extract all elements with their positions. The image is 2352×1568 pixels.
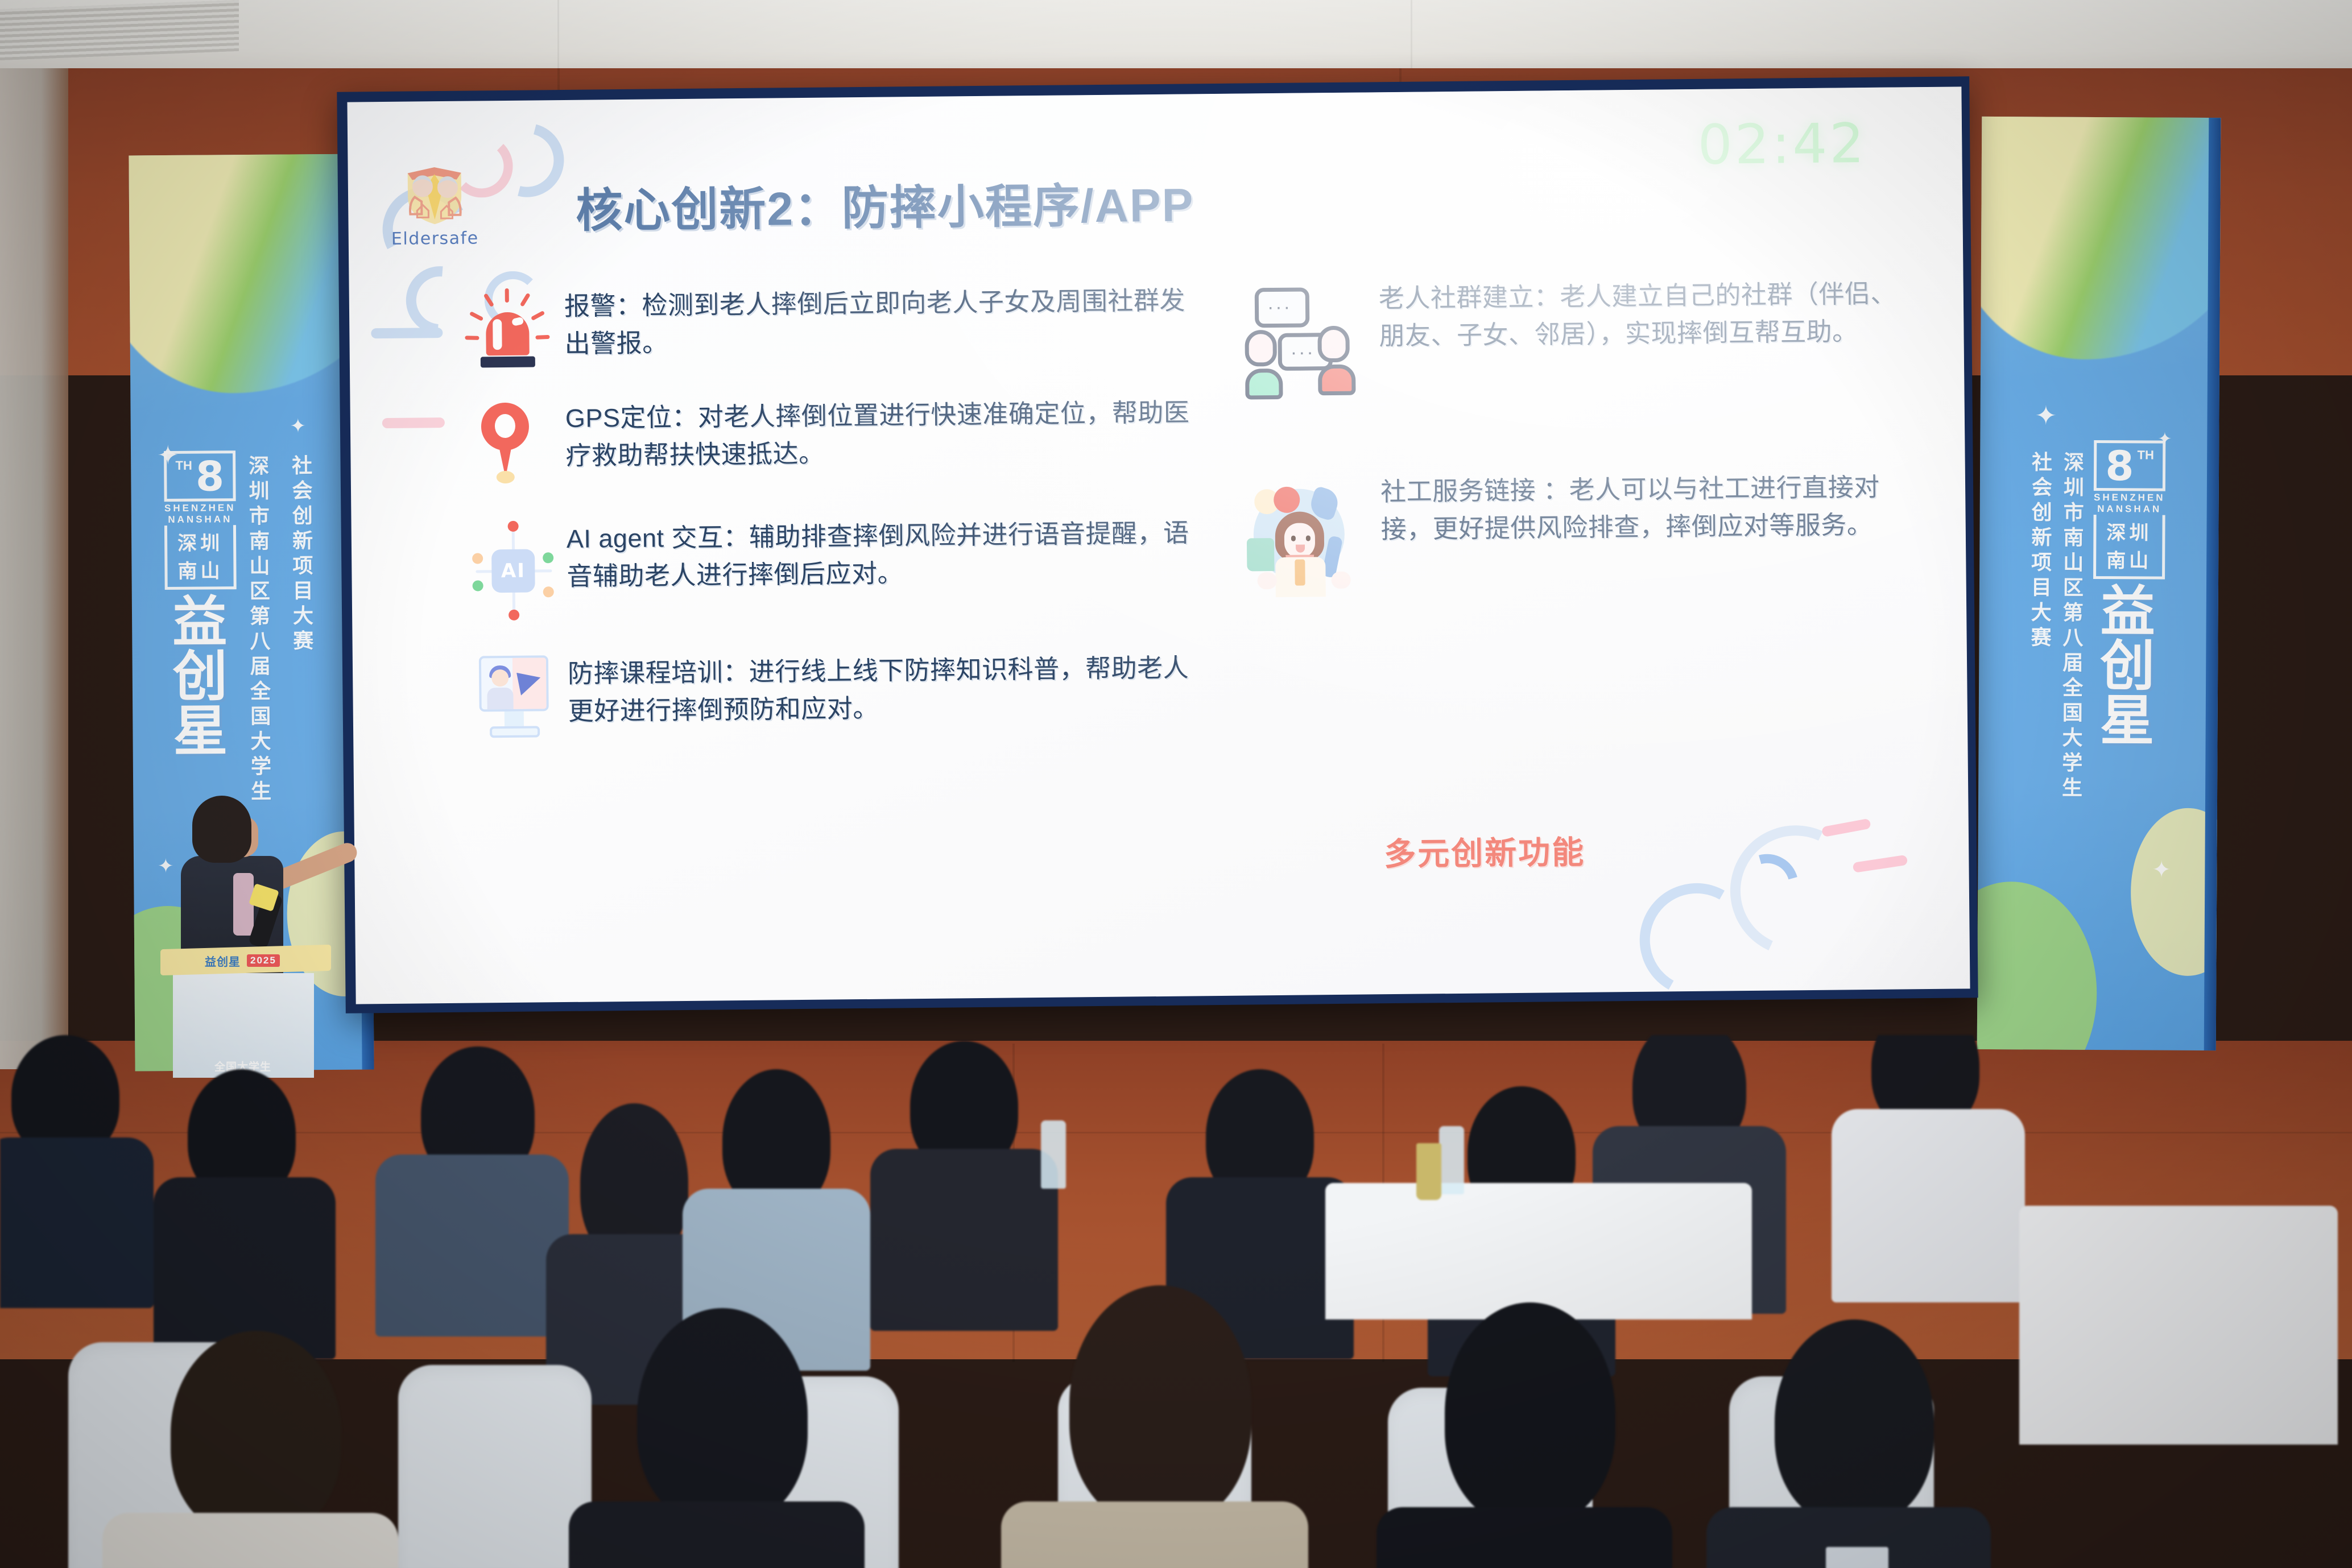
list-item: 报警：检测到老人摔倒后立即向老人子女及周围社群发出警报。: [470, 282, 1216, 366]
audience-head: [171, 1331, 341, 1536]
badge-pinyin: SHENZHEN NANSHAN: [164, 502, 236, 526]
alarm-siren-icon: [470, 288, 556, 365]
cup: [1826, 1547, 1888, 1568]
audience-body: [102, 1513, 398, 1568]
list-item: 社工服务链接 ：老人可以与社工进行直接对接，更好提供风险排查，摔倒应对等服务。: [1244, 468, 1928, 597]
banner-vertical-text-secondary: 深圳市南山区第八届全国大学生: [242, 455, 274, 819]
competition-badge: TH 8 SHENZHEN NANSHAN 深圳南山 益创星: [164, 450, 238, 759]
list-item-text: 老人社群建立：老人建立自己的社群（伴侣、朋友、子女、邻居），实现摔倒互帮互助。: [1379, 275, 1914, 354]
table: [2019, 1206, 2338, 1445]
list-item: ··· ··· 老人社群建立：老人建立自己的社群（伴侣、朋友、子女、邻居），实现…: [1242, 275, 1926, 395]
slide-footer-note: 多元创新功能: [1384, 827, 1586, 875]
audience-body: [870, 1149, 1058, 1331]
cup: [1416, 1143, 1441, 1200]
sparkle-icon: ✦: [2152, 857, 2171, 883]
social-worker-service-icon: [1244, 474, 1365, 597]
chair: [398, 1365, 592, 1568]
table: [1325, 1183, 1752, 1319]
decor-doodle: [476, 110, 577, 211]
decor-doodle: [1821, 818, 1871, 837]
banner-vertical-text-secondary: 深圳市南山区第八届全国大学生: [2056, 452, 2087, 827]
banner-right: ✦ ✦ ✦ 8 TH SHENZHEN NANSHAN 深圳南山 益创星 深圳市…: [1977, 117, 2221, 1050]
right-feature-list: ··· ··· 老人社群建立：老人建立自己的社群（伴侣、朋友、子女、邻居），实现…: [1242, 275, 1928, 632]
audience-body: [1377, 1507, 1672, 1568]
presentation-slide[interactable]: Eldersafe 核心创新2：防摔小程序/APP 02:42: [347, 86, 1970, 1004]
badge-pinyin: SHENZHEN NANSHAN: [2094, 492, 2165, 515]
audience-body: [0, 1137, 154, 1308]
audience: [0, 1035, 2352, 1568]
audience-head: [637, 1308, 808, 1524]
banner-decor-blob: [1977, 117, 2221, 361]
banner-decor-blob: [1977, 881, 2098, 1050]
decor-doodle: [371, 328, 443, 338]
decor-doodle: [1853, 855, 1908, 873]
list-item-text: 防摔课程培训：进行线上线下防摔知识科普，帮助老人更好进行摔倒预防和应对。: [568, 649, 1211, 730]
badge-title: 益创星: [165, 595, 238, 759]
left-feature-list: 报警：检测到老人摔倒后立即向老人子女及周围社群发出警报。 GPS定位：对老人摔倒…: [470, 282, 1220, 780]
elderly-couple-shield-icon: [398, 165, 472, 227]
banner-vertical-text-primary: 社会创新项目大赛: [2024, 451, 2055, 696]
badge-number: 8: [2105, 448, 2134, 485]
list-item: 防摔课程培训：进行线上线下防摔知识科普，帮助老人更好进行摔倒预防和应对。: [473, 649, 1219, 744]
banner-decor-blob: [129, 154, 374, 394]
podium-year: 2025: [247, 954, 280, 967]
logo-wordmark: Eldersafe: [384, 228, 486, 249]
list-item: AI AI agent 交互：辅助排查摔倒风险并进行语音提醒，语音辅助老人进行摔…: [472, 514, 1218, 621]
projection-screen-frame: Eldersafe 核心创新2：防摔小程序/APP 02:42: [337, 76, 1978, 1013]
badge-cn: 深圳南山: [2093, 515, 2165, 580]
audience-head: [1069, 1285, 1251, 1524]
podium-badge-title: 益创星: [205, 953, 241, 969]
presenter-head: [192, 796, 251, 863]
water-bottle: [1439, 1126, 1464, 1194]
decor-doodle: [1712, 806, 1880, 975]
badge-top: TH 8: [164, 450, 236, 502]
map-pin-icon: [471, 400, 557, 486]
decor-doodle: [382, 417, 445, 428]
two-people-chat-icon: ··· ···: [1242, 280, 1363, 395]
decor-doodle: [1725, 843, 1810, 928]
badge-ordinal: TH: [2138, 448, 2154, 462]
audience-body: [1832, 1109, 2025, 1302]
decor-doodle: [1627, 870, 1767, 1004]
sparkle-icon: ✦: [2035, 400, 2057, 431]
ai-chip-icon: AI: [472, 520, 559, 620]
eldersafe-logo: Eldersafe: [383, 164, 486, 249]
list-item: GPS定位：对老人摔倒位置进行快速准确定位，帮助医疗救助帮扶快速抵达。: [471, 394, 1217, 486]
sparkle-icon: ✦: [290, 415, 307, 437]
page-title: 核心创新2：防摔小程序/APP: [576, 167, 1194, 240]
badge-title: 益创星: [2092, 585, 2165, 749]
ceiling-vent: [0, 0, 239, 60]
competition-badge: 8 TH SHENZHEN NANSHAN 深圳南山 益创星: [2092, 440, 2165, 748]
countdown-timer: 02:42: [1697, 111, 1867, 177]
banner-vertical-text-primary: 社会创新项目大赛: [286, 454, 317, 693]
left-wall-column: [0, 68, 68, 1069]
list-item-text: 社工服务链接 ：老人可以与社工进行直接对接，更好提供风险排查，摔倒应对等服务。: [1380, 468, 1916, 548]
audience-body: [375, 1155, 569, 1337]
audience-body: [1001, 1501, 1308, 1568]
list-item-text: GPS定位：对老人摔倒位置进行快速准确定位，帮助医疗救助帮扶快速抵达。: [565, 394, 1209, 474]
badge-top: 8 TH: [2094, 440, 2165, 491]
audience-head: [1445, 1302, 1615, 1524]
online-course-monitor-icon: [473, 655, 559, 744]
list-item-text: 报警：检测到老人摔倒后立即向老人子女及周围社群发出警报。: [564, 282, 1208, 362]
audience-body: [569, 1501, 865, 1568]
audience-head: [1775, 1319, 1934, 1524]
podium-top: [160, 945, 331, 975]
badge-number: 8: [196, 458, 225, 495]
badge-ordinal: TH: [175, 458, 192, 473]
list-item-text: AI agent 交互：辅助排查摔倒风险并进行语音提醒，语音辅助老人进行摔倒后应…: [567, 514, 1210, 595]
water-bottle: [1041, 1120, 1066, 1189]
badge-cn: 深圳南山: [164, 525, 237, 590]
